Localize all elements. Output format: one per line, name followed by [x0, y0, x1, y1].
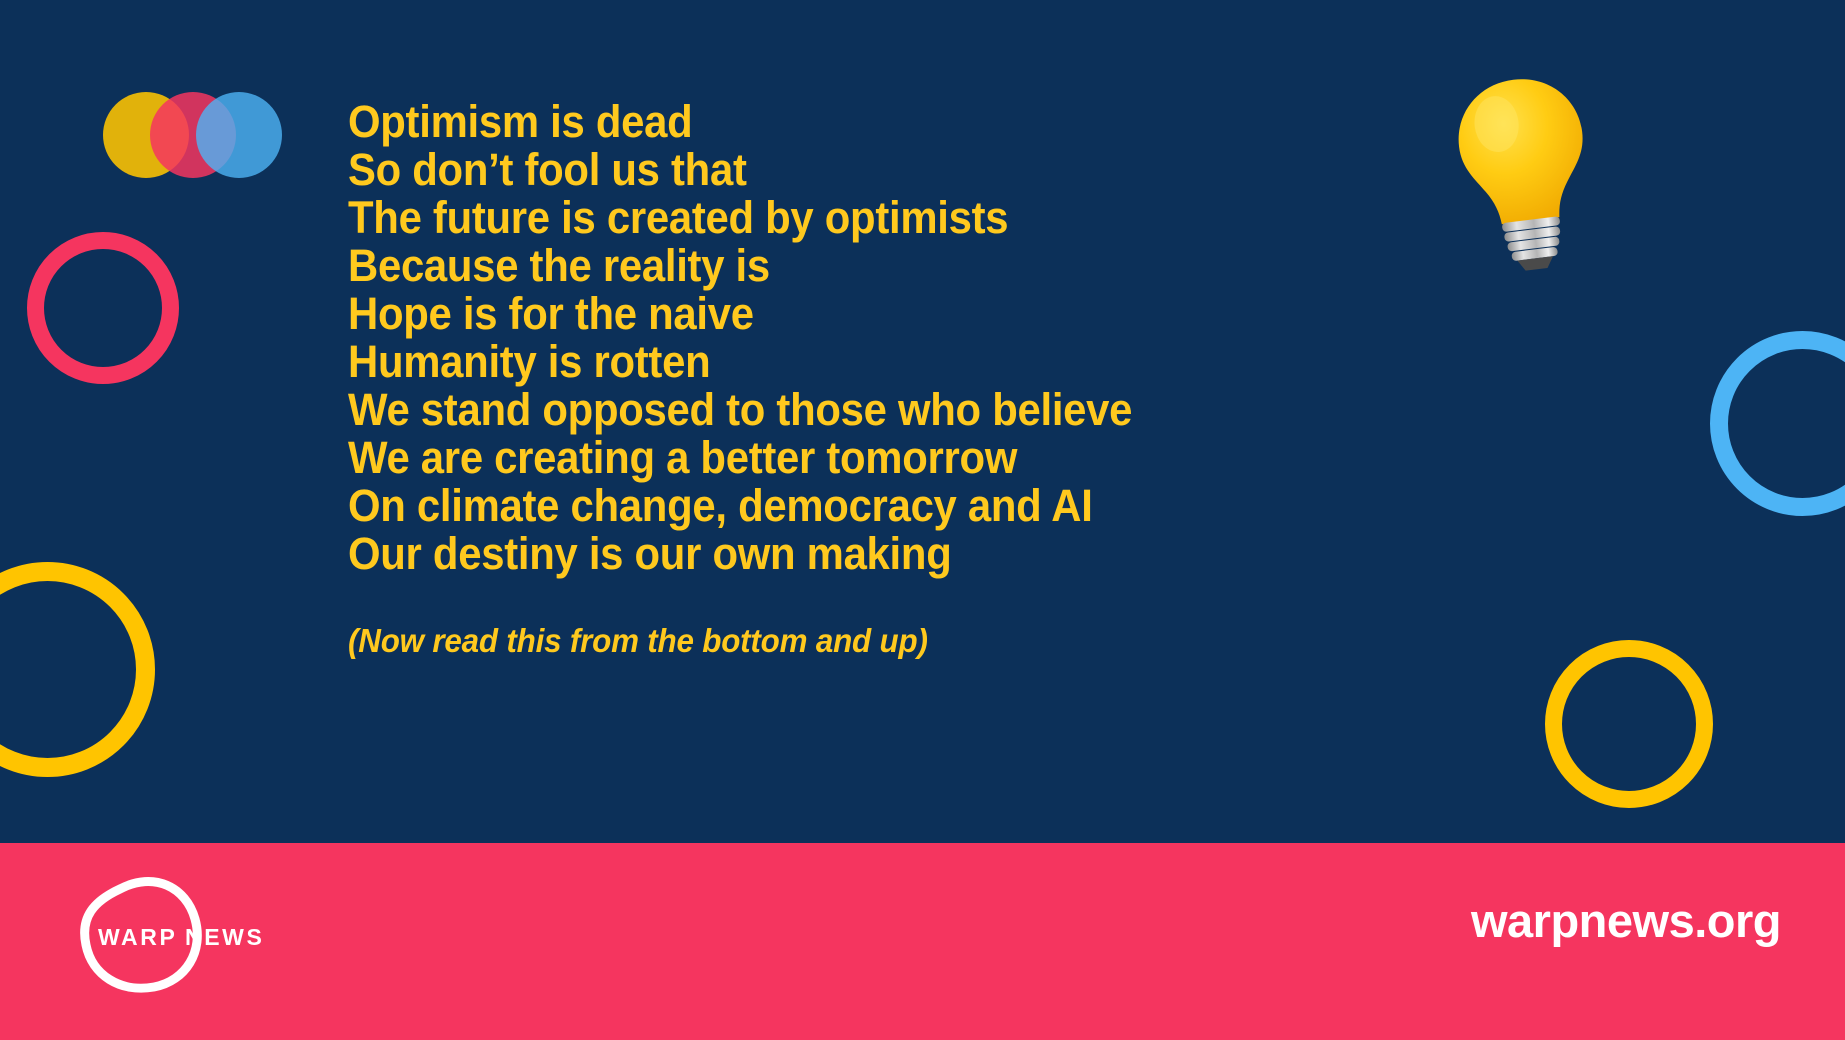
lightbulb-icon	[1455, 75, 1595, 275]
blue-dot	[196, 92, 282, 178]
poem-line: We stand opposed to those who believe	[348, 386, 1325, 434]
poem-line: Hope is for the naive	[348, 290, 1325, 338]
poem-line: Our destiny is our own making	[348, 530, 1325, 578]
pink-ring	[27, 232, 179, 384]
poem-line: The future is created by optimists	[348, 194, 1325, 242]
poem-line: Because the reality is	[348, 242, 1325, 290]
poem-block: Optimism is dead So don’t fool us that T…	[348, 98, 1398, 660]
site-url[interactable]: warpnews.org	[1471, 893, 1781, 948]
poem-line: So don’t fool us that	[348, 146, 1325, 194]
logo-word-news: NEWS	[185, 924, 262, 950]
yellow-ring-left	[0, 562, 155, 777]
poem-line: On climate change, democracy and AI	[348, 482, 1325, 530]
footer-bar: WARP NEWS warpnews.org	[0, 843, 1845, 1040]
logo-word-warp: WARP	[98, 924, 177, 950]
poem-line: Humanity is rotten	[348, 338, 1325, 386]
poem-line: Optimism is dead	[348, 98, 1325, 146]
poem-note: (Now read this from the bottom and up)	[348, 622, 1346, 660]
warp-news-logo[interactable]: WARP NEWS	[62, 873, 262, 998]
social-graphic-card: Optimism is dead So don’t fool us that T…	[0, 0, 1845, 1040]
yellow-ring-right	[1545, 640, 1713, 808]
poem-line: We are creating a better tomorrow	[348, 434, 1325, 482]
blue-ring-right	[1710, 331, 1845, 516]
